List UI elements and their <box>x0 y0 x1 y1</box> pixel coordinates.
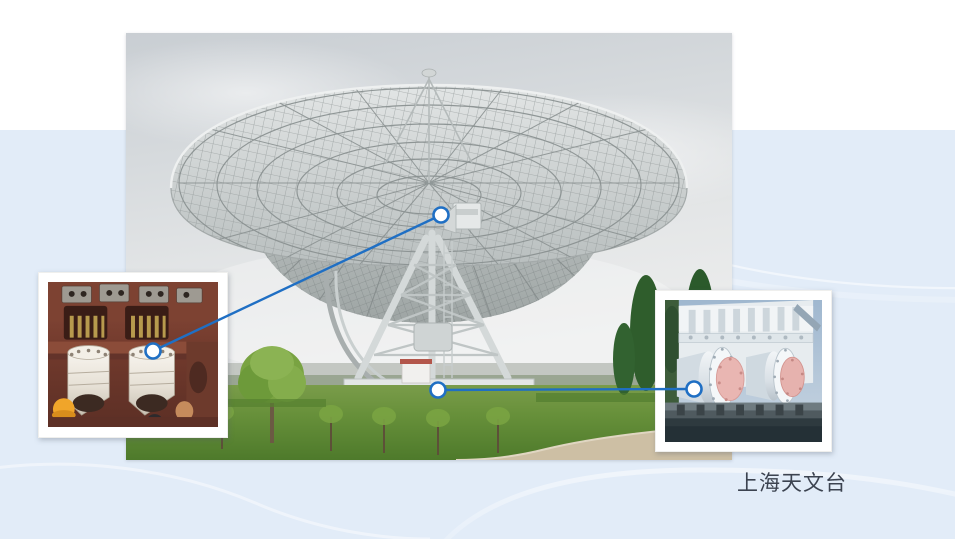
cylinder-left <box>68 346 110 416</box>
slide-caption: 上海天文台 <box>737 469 847 497</box>
restored-assembly-illustration <box>665 300 822 442</box>
inset-photo-restored-assembly[interactable] <box>655 290 832 452</box>
rusty-assembly-image <box>48 282 218 427</box>
slide-canvas: 上海天文台 <box>0 0 955 539</box>
rusty-assembly-illustration <box>48 282 218 427</box>
restored-assembly-image <box>665 300 822 442</box>
inset-photo-rusty-assembly[interactable] <box>38 272 228 438</box>
